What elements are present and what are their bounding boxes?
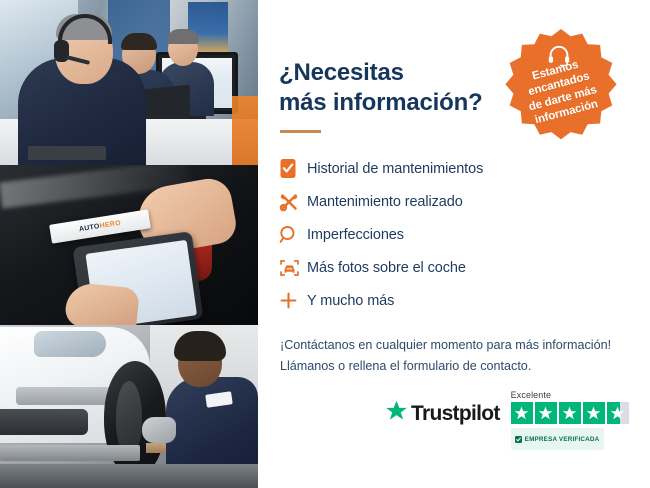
garage-floor bbox=[0, 464, 258, 488]
star-filled-2 bbox=[535, 402, 557, 424]
document-check-icon bbox=[279, 157, 307, 181]
star-filled-4 bbox=[583, 402, 605, 424]
feature-list: Historial de mantenimientos Mantenimient… bbox=[279, 152, 650, 317]
magnifier-icon bbox=[279, 223, 307, 247]
feature-item-much-more: Y mucho más bbox=[279, 284, 650, 317]
feature-item-imperfections: Imperfecciones bbox=[279, 218, 650, 251]
trustpilot-rating: Excelente bbox=[511, 390, 629, 450]
star-filled-1 bbox=[511, 402, 533, 424]
trustpilot-wordmark: Trustpilot bbox=[411, 402, 500, 426]
mechanic-glove bbox=[142, 417, 176, 443]
plus-icon bbox=[279, 289, 307, 313]
background-agent-hair bbox=[167, 29, 199, 44]
feature-item-maintenance-done: Mantenimiento realizado bbox=[279, 185, 650, 218]
call-center-agents-photo bbox=[0, 0, 258, 165]
trustpilot-rating-widget[interactable]: Trustpilot Excelente bbox=[385, 390, 650, 450]
verified-check-icon bbox=[515, 430, 522, 448]
second-agent-hair bbox=[121, 33, 157, 50]
rating-label: Excelente bbox=[511, 390, 551, 400]
star-partial-5 bbox=[607, 402, 629, 424]
star-rating bbox=[511, 402, 629, 424]
desk-keyboard bbox=[28, 146, 106, 160]
trustpilot-star-icon bbox=[385, 400, 408, 427]
star-filled-3 bbox=[559, 402, 581, 424]
feature-label: Historial de mantenimientos bbox=[307, 161, 483, 177]
status-badge: Estamos encantados de darte más informac… bbox=[499, 27, 623, 151]
trustpilot-logo[interactable]: Trustpilot bbox=[385, 400, 500, 427]
vehicle-lift-arm bbox=[0, 445, 140, 461]
contact-paragraph: ¡Contáctanos en cualquier momento para m… bbox=[280, 335, 650, 377]
verified-company-badge: EMPRESA VERIFICADA bbox=[511, 428, 605, 450]
car-headlight bbox=[34, 331, 106, 357]
orange-signage bbox=[232, 96, 258, 165]
verified-label: EMPRESA VERIFICADA bbox=[525, 436, 600, 443]
contact-line-2: Llámanos o rellena el formulario de cont… bbox=[280, 356, 650, 377]
tools-cross-icon bbox=[279, 190, 307, 214]
ruler-brand-label: AUTOHERO bbox=[79, 220, 122, 234]
car-grille bbox=[0, 409, 88, 435]
feature-label: Imperfecciones bbox=[307, 227, 404, 243]
car-focus-icon bbox=[279, 256, 307, 280]
title-divider bbox=[280, 130, 321, 133]
photo-column: AUTOHERO bbox=[0, 0, 258, 488]
feature-label: Más fotos sobre el coche bbox=[307, 260, 466, 276]
mechanic-wheel-photo bbox=[0, 325, 258, 488]
feature-item-maintenance-history: Historial de mantenimientos bbox=[279, 152, 650, 185]
information-promo-banner: AUTOHERO ¿Necesitas más infor bbox=[0, 0, 650, 488]
feature-item-more-photos: Más fotos sobre el coche bbox=[279, 251, 650, 284]
feature-label: Y mucho más bbox=[307, 293, 394, 309]
mechanic-hair bbox=[174, 331, 226, 361]
vehicle-inspection-photo: AUTOHERO bbox=[0, 165, 258, 325]
contact-line-1: ¡Contáctanos en cualquier momento para m… bbox=[280, 335, 650, 356]
feature-label: Mantenimiento realizado bbox=[307, 194, 463, 210]
